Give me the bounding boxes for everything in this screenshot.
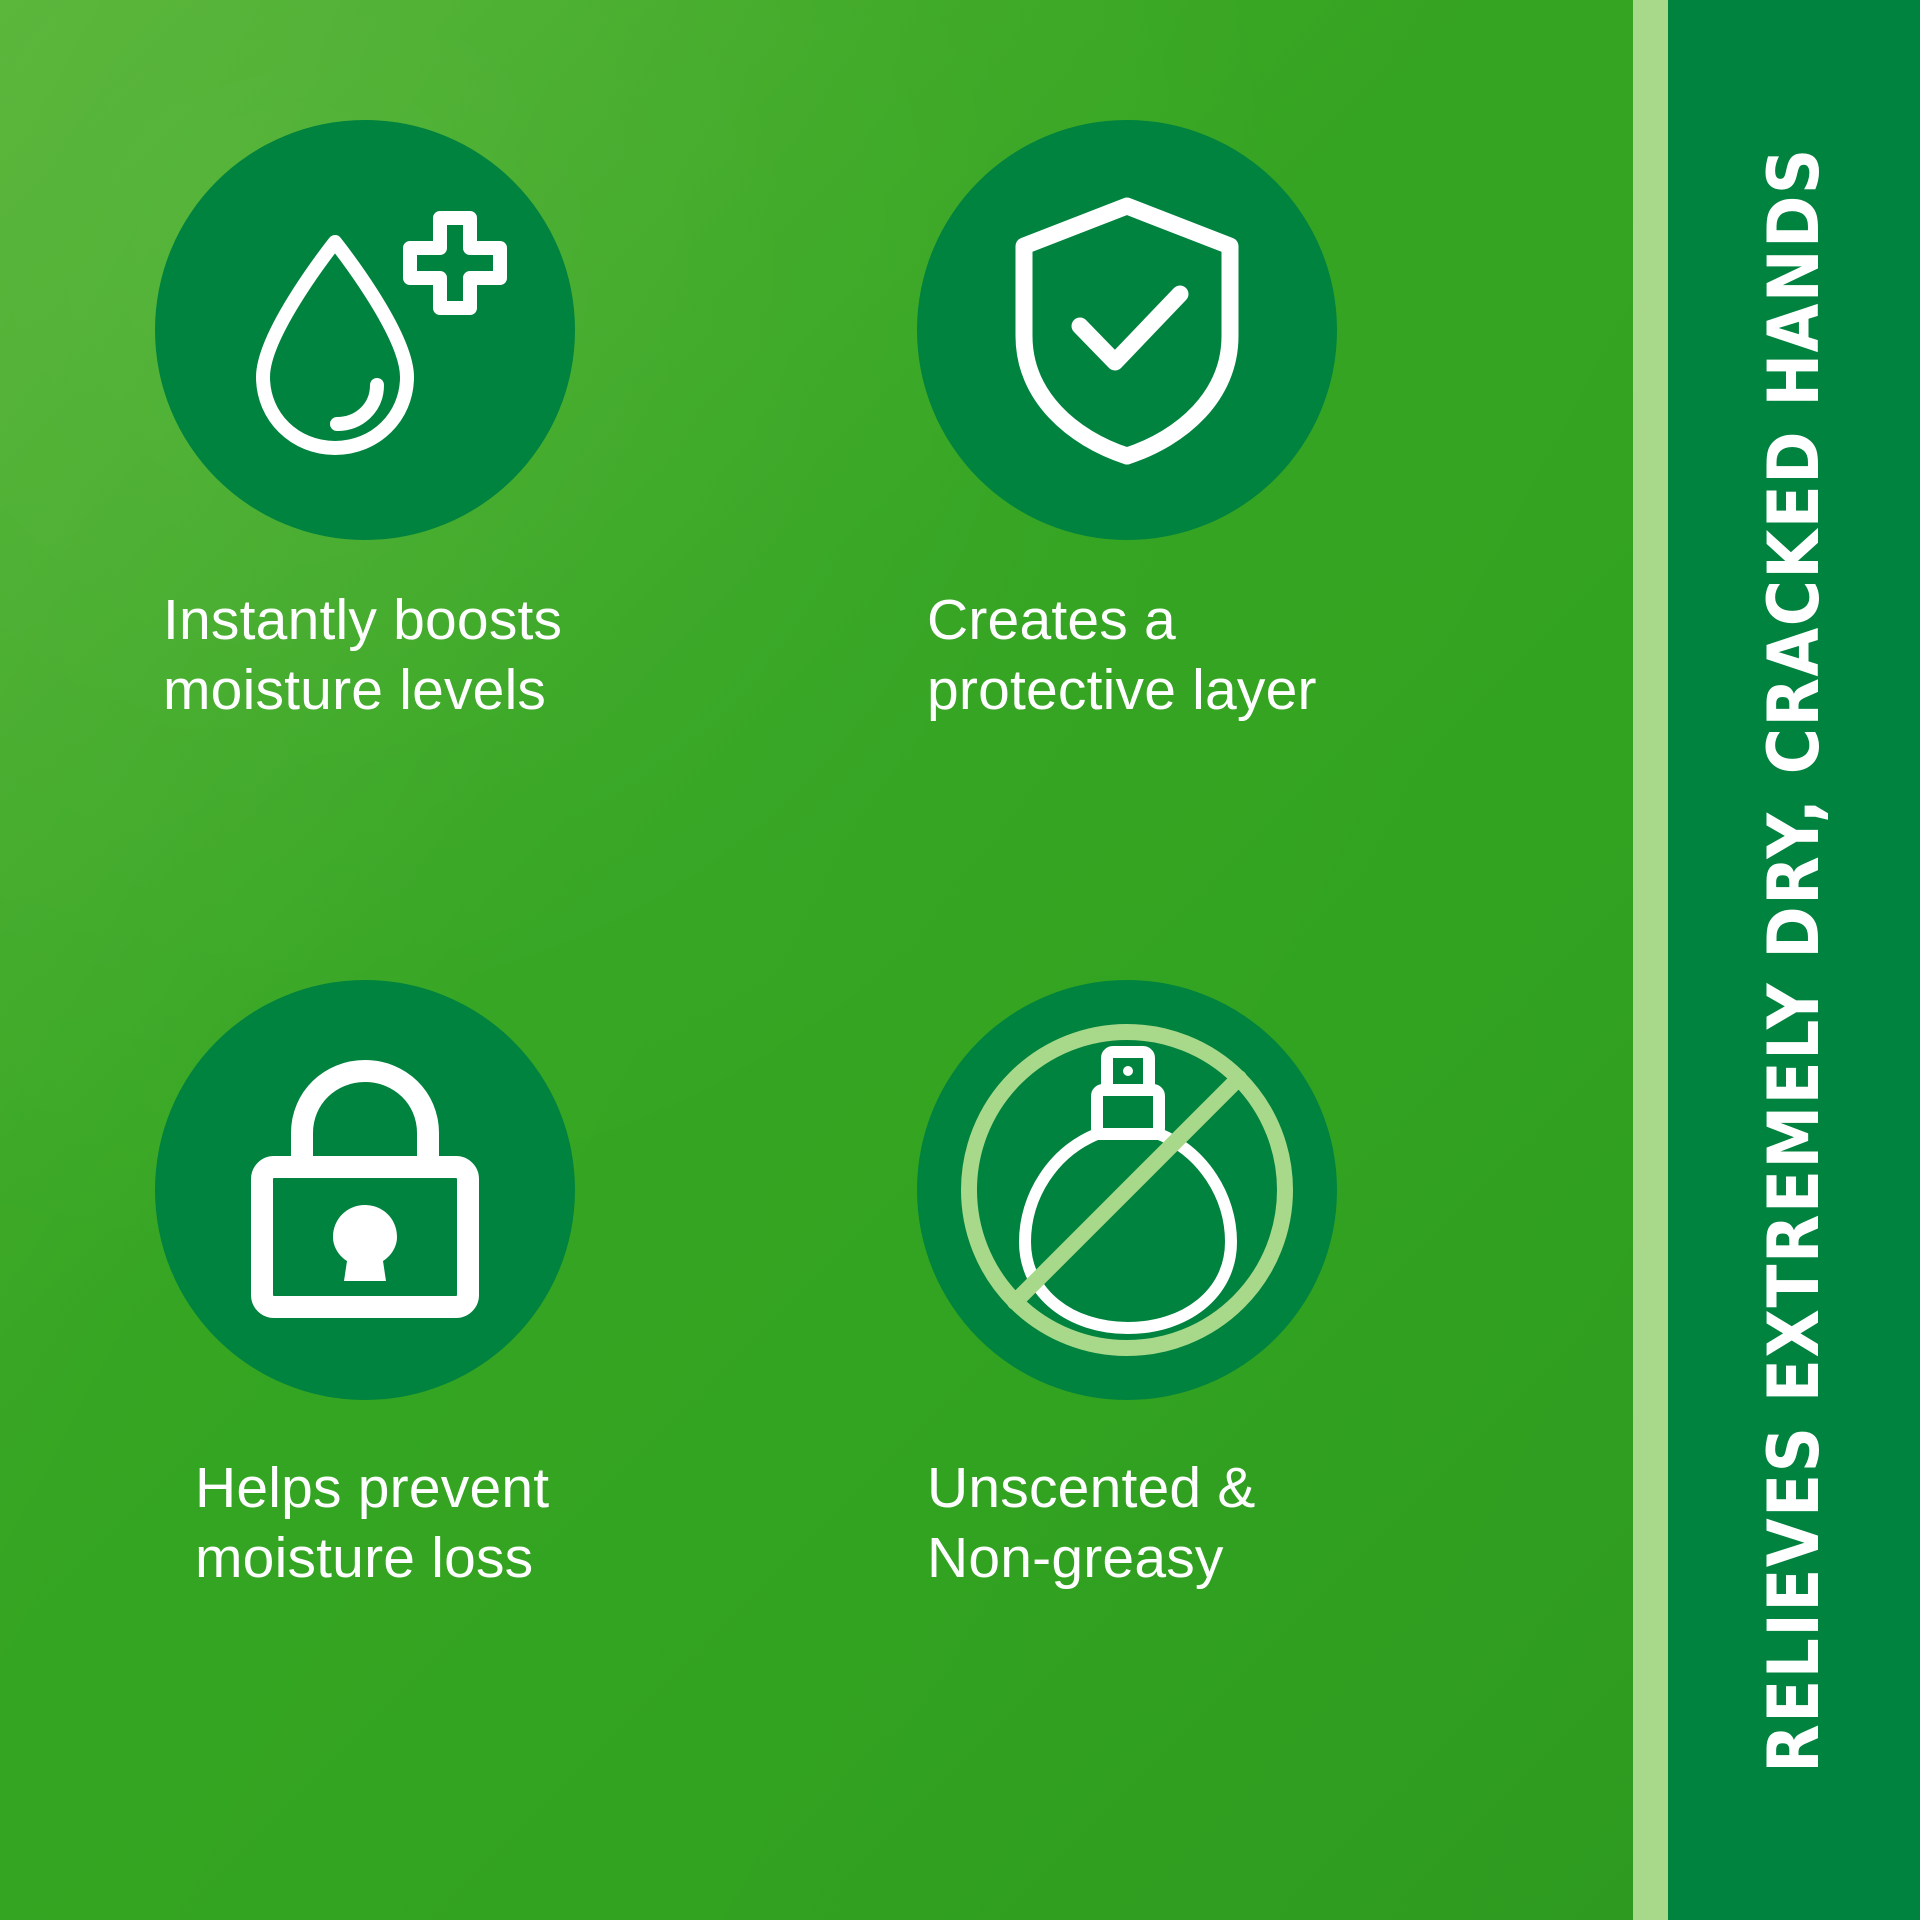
shield-check-icon	[1002, 190, 1252, 470]
feature-label-4: Unscented & Non-greasy	[927, 1454, 1567, 1593]
feature-grid: Instantly boosts moisture levels Creates…	[0, 0, 1633, 1920]
padlock-icon	[240, 1055, 490, 1325]
icon-circle-3	[155, 980, 575, 1400]
feature-label-1: Instantly boosts moisture levels	[163, 586, 803, 725]
feature-label-2: Creates a protective layer	[927, 586, 1567, 725]
water-drop-plus-icon	[215, 180, 515, 480]
icon-circle-1	[155, 120, 575, 540]
icon-circle-2	[917, 120, 1337, 540]
feature-item-moisture-loss: Helps prevent moisture loss	[155, 980, 895, 1840]
no-fragrance-icon	[957, 1020, 1297, 1360]
feature-item-moisture-boost: Instantly boosts moisture levels	[155, 120, 895, 980]
accent-stripe	[1633, 0, 1668, 1920]
banner-headline: RELIEVES EXTREMELY DRY, CRACKED HANDS	[1753, 147, 1835, 1773]
feature-item-protective-layer: Creates a protective layer	[895, 120, 1635, 980]
vertical-banner: RELIEVES EXTREMELY DRY, CRACKED HANDS	[1668, 0, 1920, 1920]
product-benefits-infographic: Instantly boosts moisture levels Creates…	[0, 0, 1920, 1920]
icon-circle-4	[917, 980, 1337, 1400]
feature-label-3: Helps prevent moisture loss	[195, 1454, 835, 1593]
feature-item-unscented: Unscented & Non-greasy	[895, 980, 1635, 1840]
